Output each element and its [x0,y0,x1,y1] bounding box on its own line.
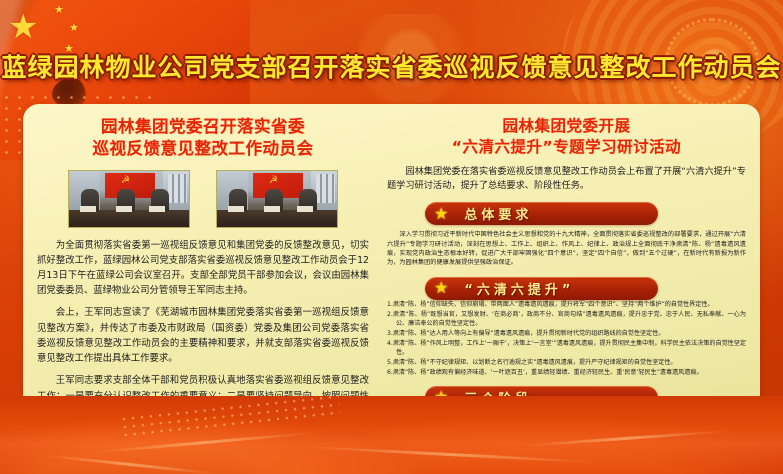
list-item: 第二阶段：自省（2018年12月28日始）围绕“反思‘陈、杨’案，追责怎看”开展… [387,420,746,432]
left-paragraph-1: 为全面贯彻落实省委第一巡视组反馈意见和集团党委的反馈整改意见，切实抓好整改工作，… [37,238,369,299]
star-icon-1: ★ [434,206,448,222]
star-icon-2: ★ [434,280,448,296]
poster-root: ★ ★ ★ ★ ★ ★ ★ 蓝绿园林物业公司党支部召开落实省委巡视反馈意见整改工… [0,0,783,474]
list-item: 2.肃清“陈、杨”既想当官，又想发财、‘在商必商’，政商不分、官商勾结”遗毒遗风… [387,310,746,328]
silk-fold-2 [300,445,600,464]
poster-main-title: 蓝绿园林物业公司党支部召开落实省委巡视反馈意见整改工作动员会 [1,48,781,84]
photo1-table [69,210,189,227]
photo2-paper-3 [297,206,313,212]
photo2-paper-2 [264,206,280,212]
list-item: 6.肃清“陈、杨”政绩观有偏经济味道、‘一叶遮百丑’，重显绩轻潜绩、重经济轻民生… [387,368,746,377]
list-item: 第一阶段：自省（2018年12月14日始）围绕“审视‘陈、杨’案，追责怎看”开展… [387,409,746,421]
photo1-window [168,174,187,203]
photo-gallery: ☭ ☭ [37,170,369,228]
section-six-clear-six-improve: ★ “六清六提升” 1.肃清“陈、杨”信仰缺失、信仰崩塌、带两面人”遗毒遗风遗痕… [387,277,746,377]
section-1-banner: ★ 总体要求 [425,202,658,225]
flag-star-large-icon: ★ [8,10,38,44]
left-heading: 园林集团党委召开落实省委 巡视反馈意见整改工作动员会 [37,116,369,161]
section-three-stages: ★ 三个阶段 第一阶段：自省（2018年12月14日始）围绕“审视‘陈、杨’案，… [387,386,746,444]
list-item: 4.肃清“陈、杨”作风上明整，工作上‘一厢干’，决策上‘一言堂’”遗毒遗风遗痕，… [387,339,746,357]
section-overall-requirements: ★ 总体要求 深入学习贯彻习近平新时代中国特色社会主义思想和党的十九大精神，全面… [387,202,746,267]
right-heading-line2: “六清六提升”专题学习研讨活动 [387,137,746,158]
left-heading-line2: 巡视反馈意见整改工作动员会 [37,138,369,160]
right-heading-line1: 园林集团党委开展 [387,116,746,137]
list-item: 第三阶段：自纠（2019年01月10日始）紧围绕“肃清‘陈、杨’案，该怎么干”开… [387,432,746,444]
section-2-banner: ★ “六清六提升” [425,277,658,300]
list-item: 3.肃清“陈、杨”达人用人等向上有偏导”遗毒遗风遗痕，提升贯彻新时代党的组织路线… [387,329,746,338]
silk-fold-1 [90,431,319,454]
star-icon-3: ★ [434,389,448,405]
section-3-stage-list: 第一阶段：自省（2018年12月14日始）围绕“审视‘陈、杨’案，追责怎看”开展… [387,409,746,444]
photo1-paper-3 [149,206,165,212]
section-1-title: 总体要求 [464,204,532,223]
section-1-paragraph: 深入学习贯彻习近平新时代中国特色社会主义思想和党的十九大精神，全面贯彻落实省委巡… [387,230,746,267]
left-paragraph-3: 王军同志要求支部全体干部和党员积极认真地落实省委巡视组反馈意见整改工作：一是要充… [37,373,369,434]
section-2-list: 1.肃清“陈、杨”信仰缺失、信仰崩塌、带两面人”遗毒遗风遗痕，提升将军“四个意识… [387,300,746,377]
flag-star-small-icon-1: ★ [54,4,64,15]
content-panel: 园林集团党委召开落实省委 巡视反馈意见整改工作动员会 ☭ [23,104,760,427]
section-3-banner: ★ 三个阶段 [425,386,658,409]
hammer-sickle-icon-2: ☭ [267,175,279,186]
left-paragraph-2: 会上，王军同志宣读了《芜湖城市园林集团党委落实省委第一巡视组反馈意见整改方案》，… [37,305,369,366]
list-item: 1.肃清“陈、杨”信仰缺失、信仰崩塌、带两面人”遗毒遗风遗痕，提升将军“四个意识… [387,300,746,309]
section-2-title: “六清六提升” [464,279,574,298]
photo2-window [316,174,335,203]
list-item: 5.肃清“陈、杨”不守纪律规矩、以划断之名行逾规之实”遗毒遗风遗痕，提升严守纪律… [387,358,746,367]
photo1-paper-1 [80,206,96,212]
right-heading: 园林集团党委开展 “六清六提升”专题学习研讨活动 [387,116,746,158]
poster-title-bar: 蓝绿园林物业公司党支部召开落实省委巡视反馈意见整改工作动员会 [0,47,783,85]
section-3-title: 三个阶段 [464,388,532,407]
right-intro-text: 园林集团党委在落实省委巡视反馈意见整改工作动员会上布置了开展“六清六提升”专题学… [387,165,746,194]
meeting-photo-2: ☭ [216,170,338,228]
hammer-sickle-icon: ☭ [119,175,131,186]
right-column: 园林集团党委开展 “六清六提升”专题学习研讨活动 园林集团党委在落实省委巡视反馈… [379,104,760,427]
photo1-paper-2 [116,206,132,212]
photo2-table [217,210,337,227]
left-heading-line1: 园林集团党委召开落实省委 [37,116,369,138]
left-column: 园林集团党委召开落实省委 巡视反馈意见整改工作动员会 ☭ [23,104,379,427]
photo2-paper-1 [228,206,244,212]
left-body-text: 为全面贯彻落实省委第一巡视组反馈意见和集团党委的反馈整改意见，切实抓好整改工作，… [37,238,369,435]
flag-star-small-icon-2: ★ [69,22,79,33]
silk-fold-4 [40,454,219,474]
meeting-photo-1: ☭ [68,170,190,228]
section-1-body: 深入学习贯彻习近平新时代中国特色社会主义思想和党的十九大精神，全面贯彻落实省委巡… [387,230,746,267]
